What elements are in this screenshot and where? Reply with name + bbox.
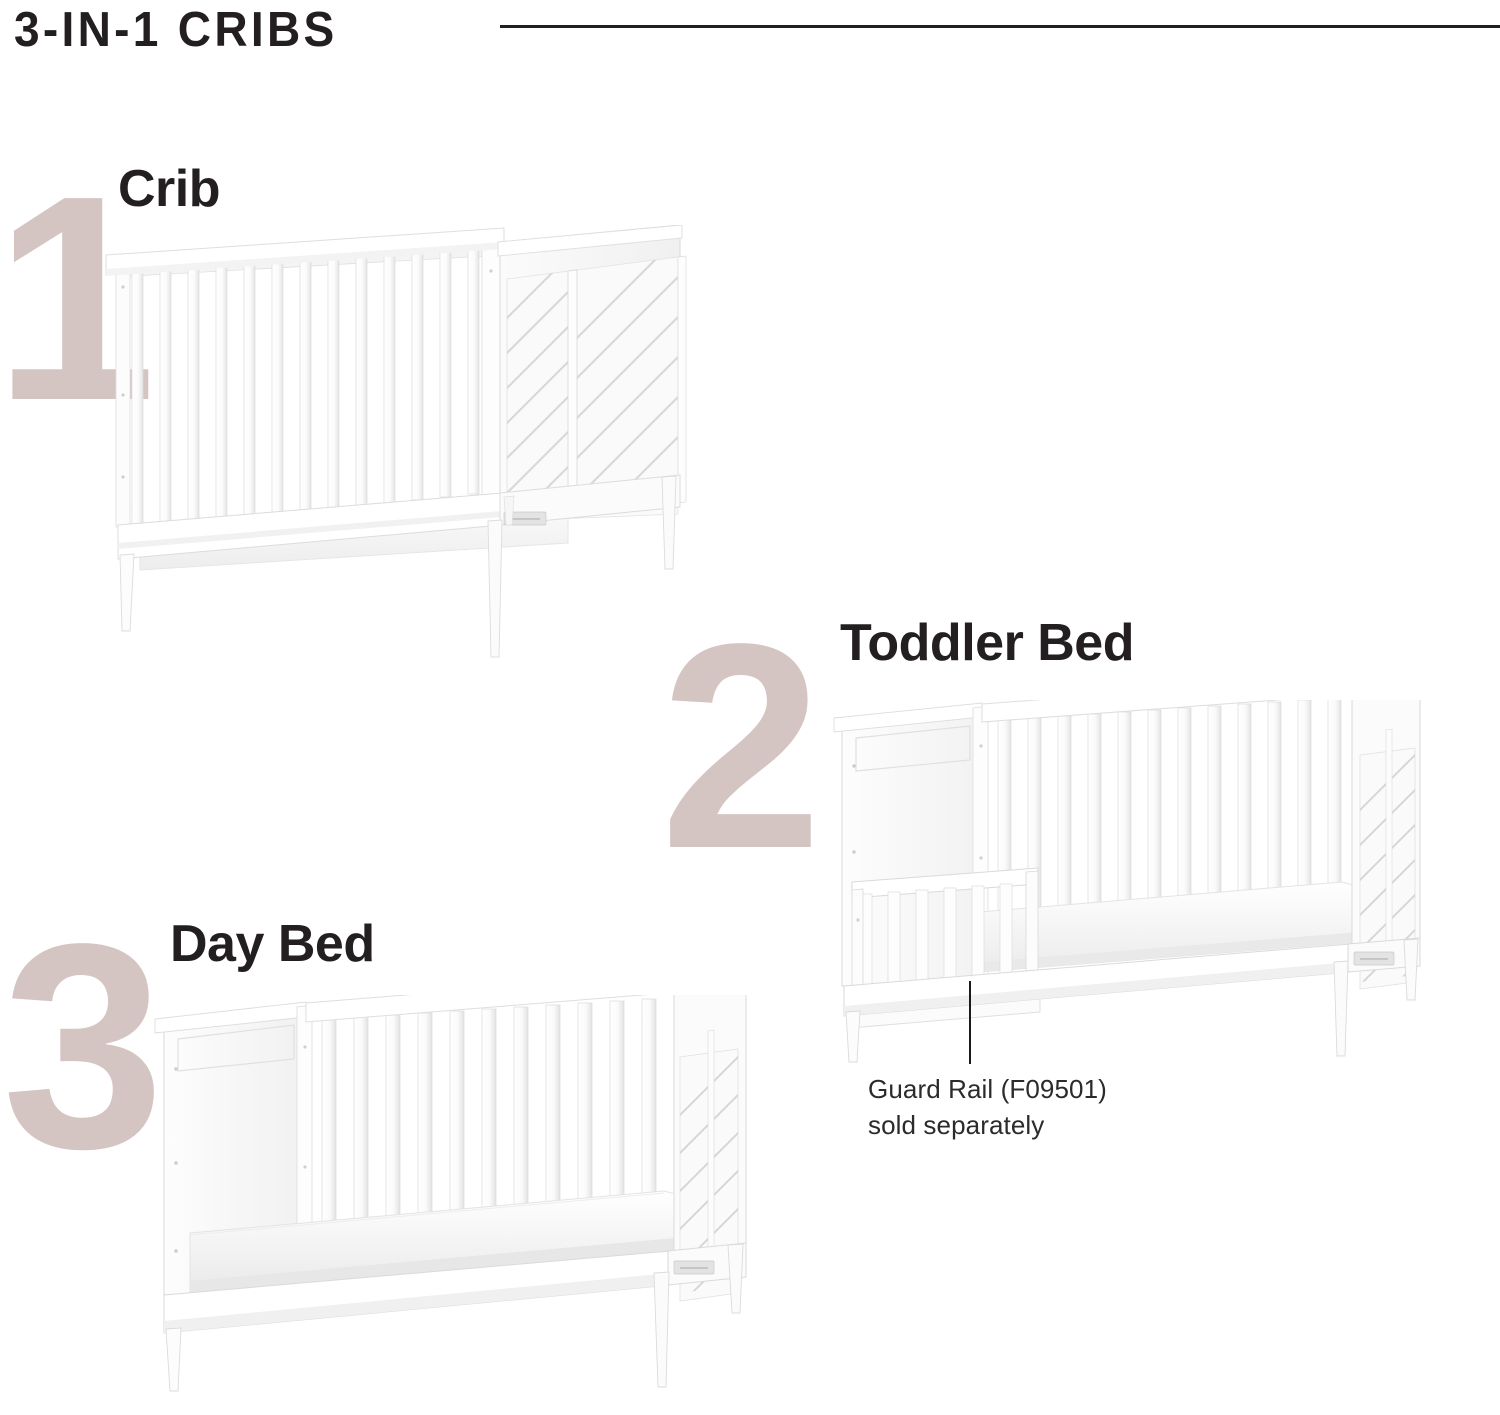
step-number-2: 2 <box>660 600 822 892</box>
step-label-toddler-bed: Toddler Bed <box>840 617 1134 669</box>
step-label-day-bed: Day Bed <box>170 918 375 970</box>
toddler-bed-illustration <box>830 700 1430 1070</box>
page-title: 3-IN-1 CRIBS <box>14 2 338 58</box>
step-label-crib: Crib <box>118 163 220 215</box>
crib-illustration <box>100 225 700 660</box>
guard-rail-callout: Guard Rail (F09501) sold separately <box>868 1072 1107 1144</box>
day-bed-illustration <box>150 995 770 1395</box>
guard-rail-leader-line <box>969 981 971 1064</box>
infographic-canvas: 3-IN-1 CRIBS 1 Crib <box>0 0 1500 1415</box>
step-number-3: 3 <box>2 900 164 1192</box>
title-divider <box>500 25 1500 28</box>
